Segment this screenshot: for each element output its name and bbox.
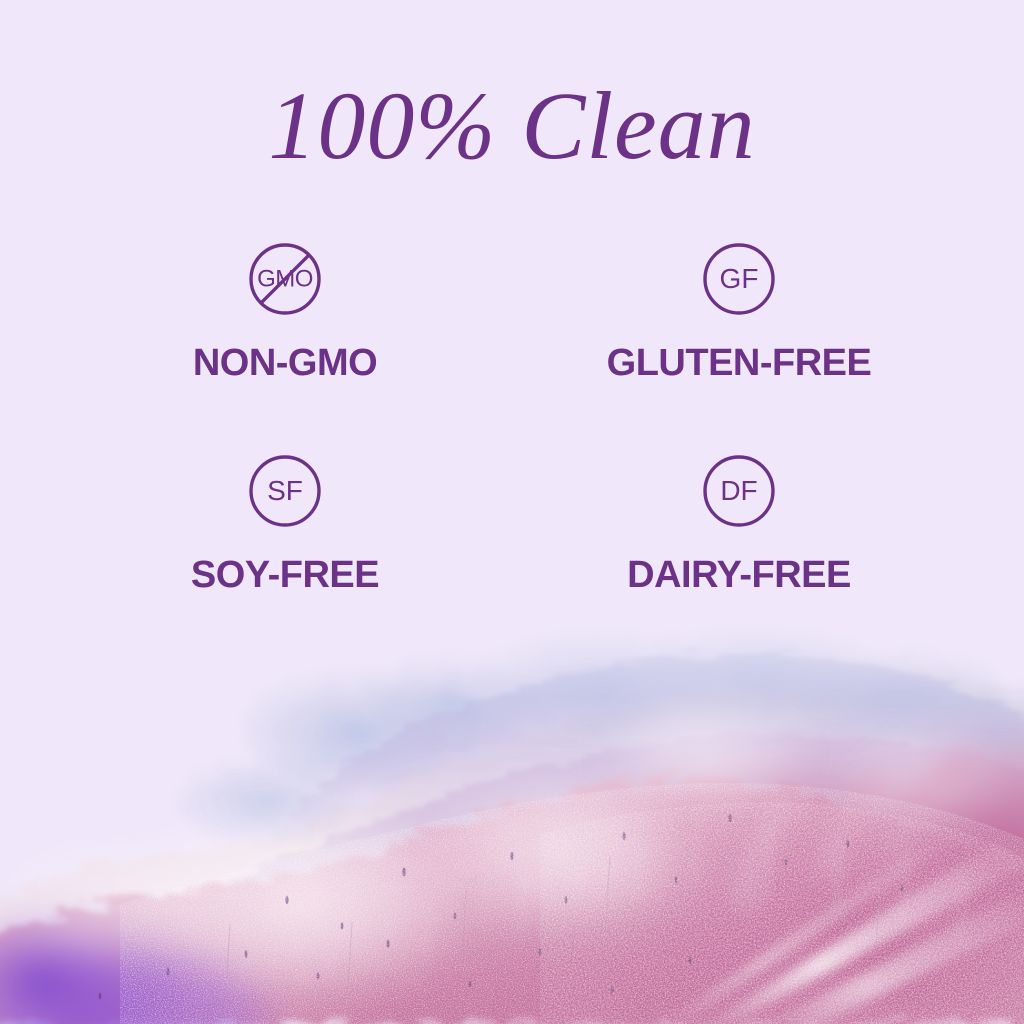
clean-claims-grid: GMO NON-GMO GF GLUTEN-FREE SF [58, 240, 966, 664]
soy-free-icon: SF [246, 452, 324, 530]
no-gmo-icon: GMO [246, 240, 324, 318]
badge-gluten-free: GF GLUTEN-FREE [512, 240, 966, 452]
powder-burst-artwork [0, 604, 1024, 1024]
badge-soy-free: SF SOY-FREE [58, 452, 512, 664]
svg-text:DF: DF [720, 475, 757, 506]
badge-dairy-free: DF DAIRY-FREE [512, 452, 966, 664]
dairy-free-icon: DF [700, 452, 778, 530]
badge-label-non-gmo: NON-GMO [193, 342, 377, 385]
badge-label-gluten-free: GLUTEN-FREE [607, 342, 872, 385]
gluten-free-icon: GF [700, 240, 778, 318]
badge-label-dairy-free: DAIRY-FREE [627, 554, 851, 597]
svg-text:GF: GF [720, 263, 759, 294]
badge-label-soy-free: SOY-FREE [191, 554, 379, 597]
svg-text:SF: SF [267, 475, 303, 506]
badge-non-gmo: GMO NON-GMO [58, 240, 512, 452]
promo-graphic: 100% Clean GMO NON-GMO GF GLUTEN-FREE [0, 0, 1024, 1024]
page-title: 100% Clean [0, 78, 1024, 174]
